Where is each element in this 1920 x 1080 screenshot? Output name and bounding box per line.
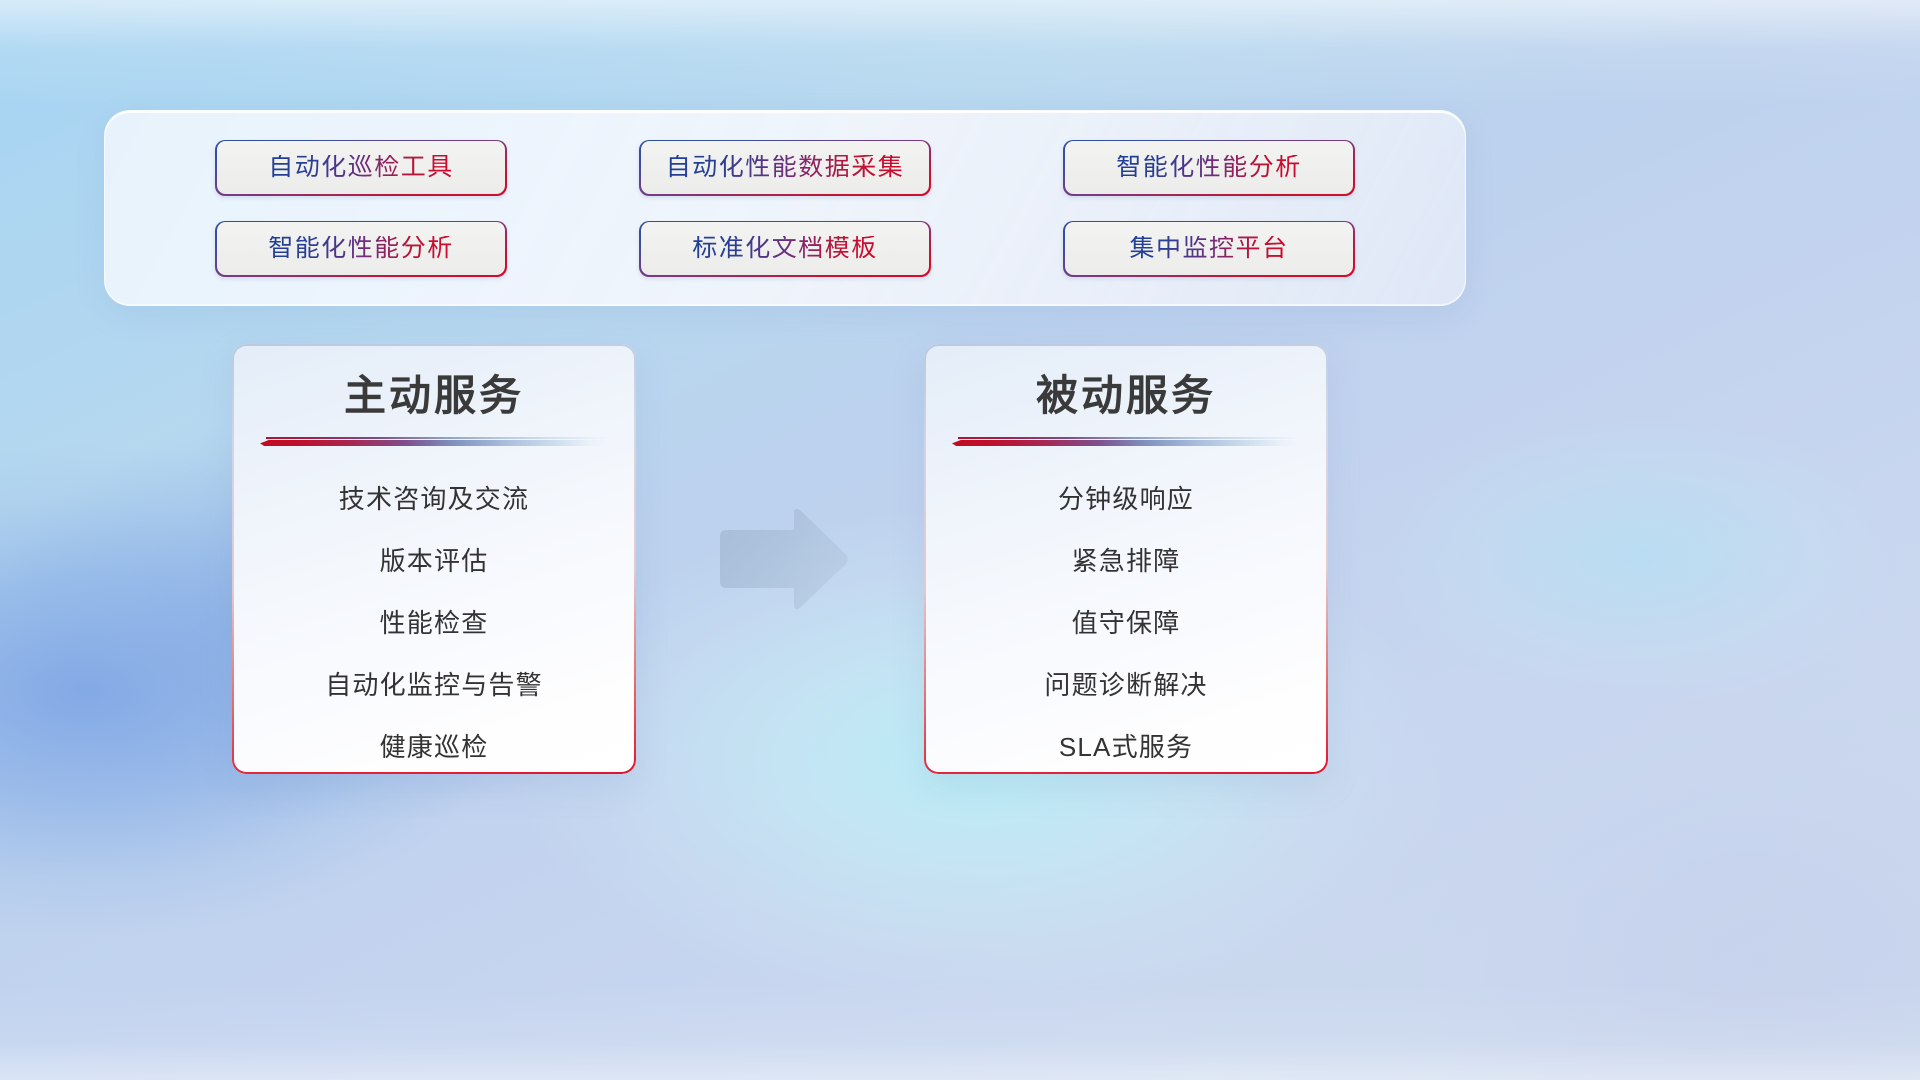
service-item[interactable]: 问题诊断解决 (1044, 654, 1207, 716)
arrow-right-icon (714, 504, 852, 614)
capability-tag-inner: 标准化文档模板 (641, 222, 930, 275)
capability-tag[interactable]: 自动化性能数据采集 (639, 140, 931, 196)
capability-panel: 自动化巡检工具 自动化性能数据采集 智能化性能分析 智能化性能分析 (104, 110, 1466, 306)
service-item[interactable]: 技术咨询及交流 (339, 468, 529, 530)
service-item[interactable]: 健康巡检 (380, 716, 489, 773)
service-card-body: 被动服务 分钟级响应 紧急排障 值守保障 问题诊断解决 SLA式服务 (925, 345, 1326, 772)
capability-tag-inner: 智能化性能分析 (1065, 141, 1354, 194)
service-item[interactable]: 自动化监控与告警 (325, 654, 543, 716)
service-item[interactable]: 性能检查 (380, 592, 489, 654)
capability-tag-label: 智能化性能分析 (1116, 155, 1302, 180)
capability-tag[interactable]: 集中监控平台 (1063, 221, 1355, 277)
capability-tag-label: 智能化性能分析 (268, 236, 454, 261)
service-item[interactable]: SLA式服务 (1059, 716, 1193, 773)
capability-tag-label: 自动化性能数据采集 (666, 155, 905, 180)
capability-tag-inner: 智能化性能分析 (217, 222, 506, 275)
capability-tag[interactable]: 智能化性能分析 (1063, 140, 1355, 196)
capability-tag[interactable]: 自动化巡检工具 (215, 140, 507, 196)
service-card-body: 主动服务 技术咨询及交流 版本评估 性能检查 自动化监控与告警 健康巡检 (233, 345, 634, 772)
title-divider-thin-line (958, 437, 1300, 439)
service-item[interactable]: 紧急排障 (1072, 530, 1181, 592)
capability-tag[interactable]: 智能化性能分析 (215, 221, 507, 277)
service-item[interactable]: 版本评估 (380, 530, 489, 592)
slide-canvas: 自动化巡检工具 自动化性能数据采集 智能化性能分析 智能化性能分析 (0, 0, 1920, 1080)
capability-tag-label: 集中监控平台 (1129, 236, 1288, 261)
service-item[interactable]: 值守保障 (1072, 592, 1181, 654)
capability-tag-inner: 自动化巡检工具 (217, 141, 506, 194)
capability-tag-label: 标准化文档模板 (692, 236, 878, 261)
title-divider-thin-line (266, 437, 608, 439)
service-item-list: 技术咨询及交流 版本评估 性能检查 自动化监控与告警 健康巡检 (259, 468, 608, 773)
capability-tag-label: 自动化巡检工具 (268, 155, 454, 180)
service-card-proactive[interactable]: 主动服务 技术咨询及交流 版本评估 性能检查 自动化监控与告警 健康巡检 (232, 344, 636, 774)
capability-tag-inner: 自动化性能数据采集 (641, 141, 930, 194)
capability-tag-grid: 自动化巡检工具 自动化性能数据采集 智能化性能分析 智能化性能分析 (105, 111, 1465, 305)
title-divider-thick-line (952, 440, 1300, 446)
service-item[interactable]: 分钟级响应 (1058, 468, 1194, 530)
title-divider-thick-line (260, 440, 608, 446)
capability-tag-inner: 集中监控平台 (1065, 222, 1354, 275)
service-card-title: 被动服务 (1036, 371, 1216, 421)
service-card-title: 主动服务 (344, 371, 524, 421)
capability-tag[interactable]: 标准化文档模板 (639, 221, 931, 277)
service-card-reactive[interactable]: 被动服务 分钟级响应 紧急排障 值守保障 问题诊断解决 SLA式服务 (924, 344, 1328, 774)
service-item-list: 分钟级响应 紧急排障 值守保障 问题诊断解决 SLA式服务 (951, 468, 1300, 773)
flow-arrow (714, 504, 852, 614)
